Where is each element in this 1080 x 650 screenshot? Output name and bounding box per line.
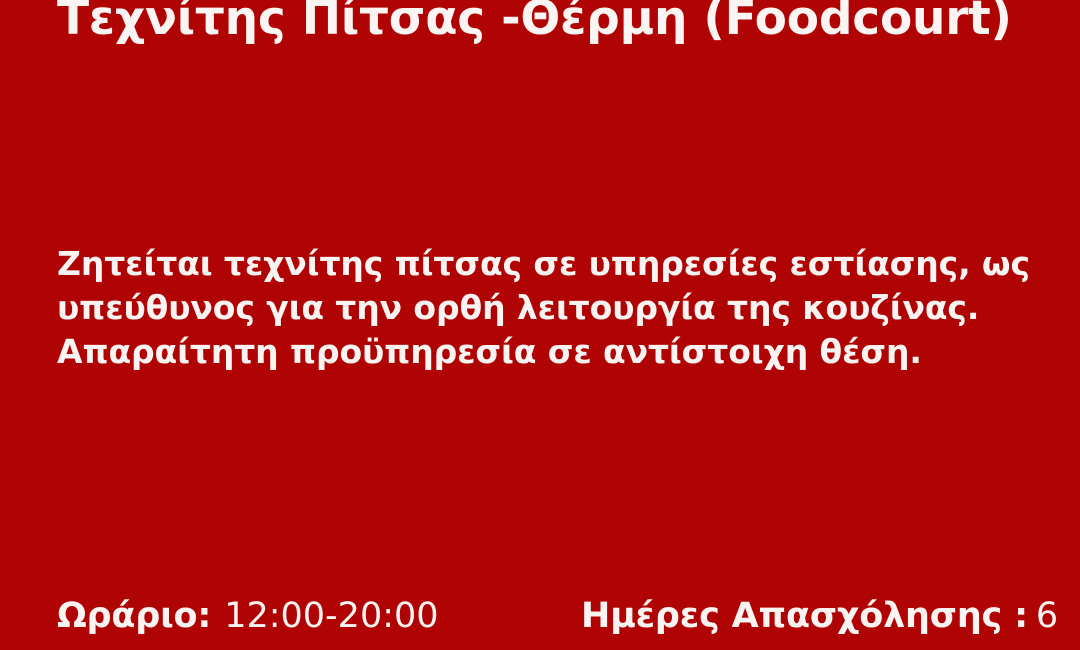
working-days-value: 6 — [1036, 594, 1058, 638]
page-title: Τεχνίτης Πίτσας -Θέρμη (Foodcourt) — [57, 0, 1012, 47]
job-description-line: Απαραίτητη προϋπηρεσία σε αντίστοιχη θέσ… — [57, 330, 977, 374]
job-posting-card: Τεχνίτης Πίτσας -Θέρμη (Foodcourt) Ζητεί… — [0, 0, 1080, 650]
working-hours-label: Ωράριο: — [57, 594, 211, 638]
job-description-line: υπεύθυνος για την ορθή λειτουργία της κο… — [57, 286, 977, 330]
job-description-line: Ζητείται τεχνίτης πίτσας σε υπηρεσίες εσ… — [57, 242, 977, 286]
job-meta-row: Ωράριο: 12:00-20:00 Ημέρες Απασχόλησης :… — [0, 594, 1080, 644]
working-days-label: Ημέρες Απασχόλησης : — [581, 594, 1028, 638]
working-hours: Ωράριο: 12:00-20:00 — [57, 594, 439, 638]
working-hours-value: 12:00-20:00 — [224, 594, 438, 638]
working-days: Ημέρες Απασχόλησης : 6 — [581, 594, 1058, 638]
job-description: Ζητείται τεχνίτης πίτσας σε υπηρεσίες εσ… — [57, 242, 977, 374]
